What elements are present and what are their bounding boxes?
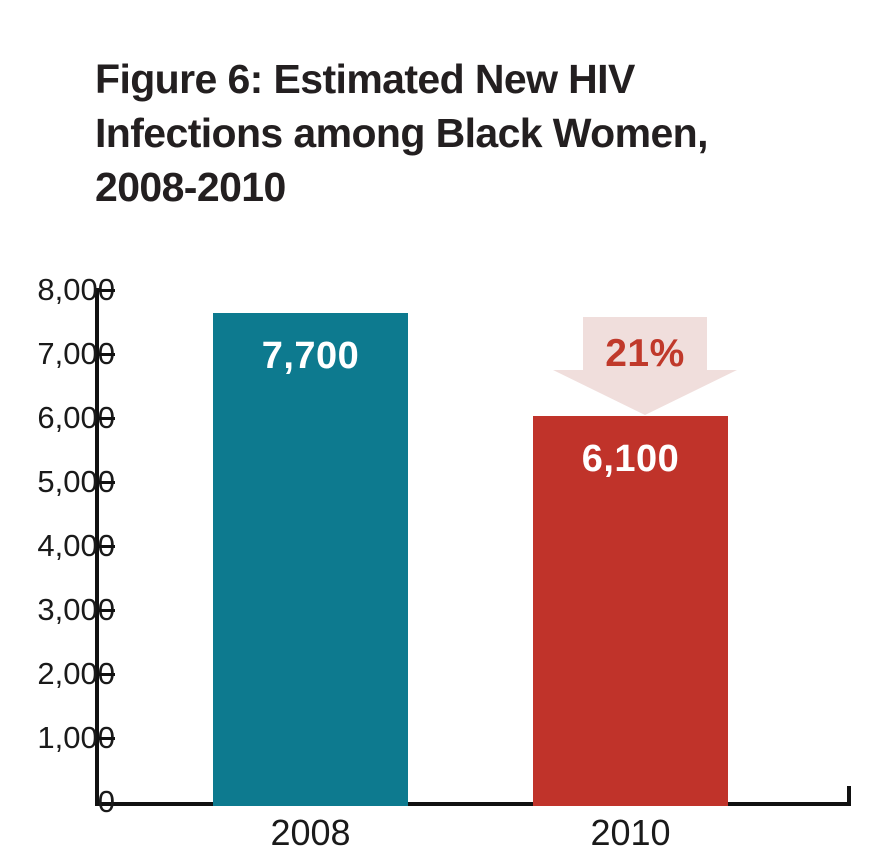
x-axis-line [95, 802, 851, 806]
y-tick-mark [99, 609, 115, 612]
percent-decrease-label: 21% [553, 332, 737, 376]
y-tick-mark [99, 353, 115, 356]
y-tick-mark [99, 673, 115, 676]
y-tick-mark [99, 289, 115, 292]
bar-value-label: 7,700 [213, 335, 408, 378]
bar-2008[interactable]: 7,700 [213, 313, 408, 806]
x-axis-label-2010: 2010 [533, 812, 728, 854]
x-axis-end-tick [847, 786, 851, 804]
y-tick-mark [99, 417, 115, 420]
y-tick-mark [99, 545, 115, 548]
y-tick-mark [99, 737, 115, 740]
bar-value-label: 6,100 [533, 438, 728, 481]
chart-plot-area: 8,000 7,000 6,000 5,000 4,000 3,000 [0, 0, 884, 863]
y-tick-label: 0 [29, 786, 115, 817]
bar-2010[interactable]: 6,100 [533, 416, 728, 806]
x-axis-label-2008: 2008 [213, 812, 408, 854]
y-tick-mark [99, 481, 115, 484]
figure-container: Figure 6: Estimated New HIV Infections a… [0, 0, 884, 863]
